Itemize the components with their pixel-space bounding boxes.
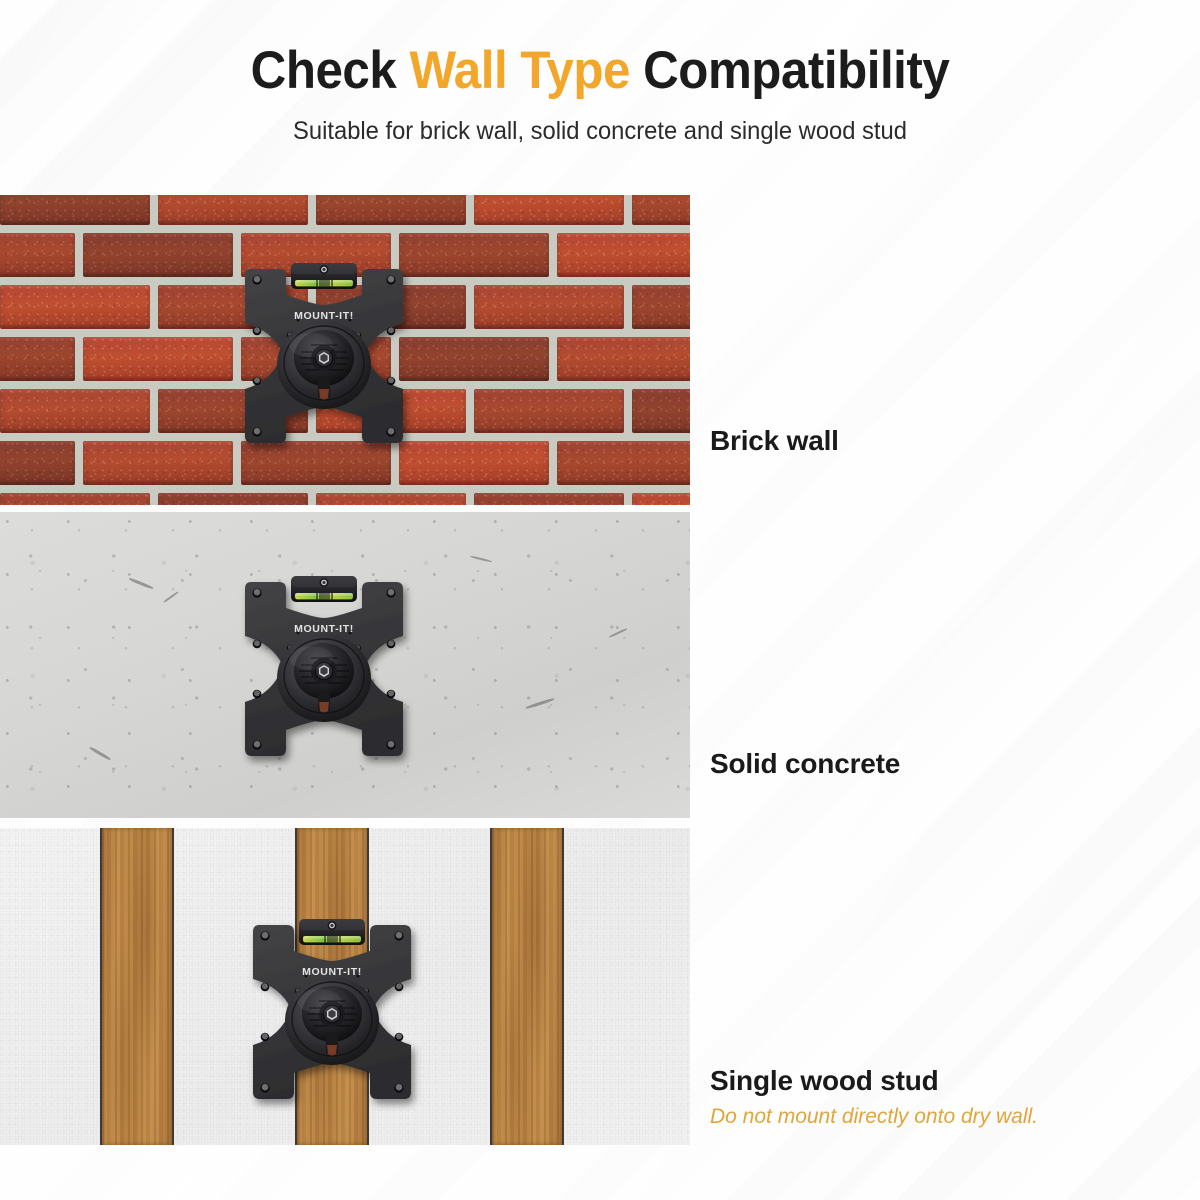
wall-type-label-wood: Single wood stud [710, 1065, 1038, 1097]
brick [316, 493, 466, 505]
brick [0, 285, 150, 329]
tv-mount-bracket-on-brick [231, 257, 417, 455]
brick [399, 441, 549, 485]
brick [316, 195, 466, 225]
brick-course [0, 493, 690, 505]
tv-mount-bracket-on-wood-stud [239, 913, 425, 1111]
brick [632, 389, 690, 433]
brick [632, 195, 690, 225]
title-text-trailing: Compatibility [630, 41, 949, 100]
brick [474, 389, 624, 433]
brick [632, 285, 690, 329]
infographic-page: Check Wall Type Compatibility Suitable f… [0, 0, 1200, 1200]
brick [474, 493, 624, 505]
label-block-wood: Single wood stud Do not mount directly o… [710, 1065, 1038, 1129]
label-block-concrete: Solid concrete [710, 748, 900, 780]
wood-stud [100, 828, 174, 1145]
solid-concrete-photo [0, 512, 690, 818]
brick [399, 337, 549, 381]
wall-type-label-brick: Brick wall [710, 425, 839, 457]
brick [557, 337, 690, 381]
page-subtitle: Suitable for brick wall, solid concrete … [30, 117, 1170, 146]
wood-stud-wall-photo [0, 828, 690, 1145]
page-title: Check Wall Type Compatibility [42, 40, 1158, 101]
brick [557, 441, 690, 485]
title-text-leading: Check [251, 41, 410, 100]
brick [557, 233, 690, 277]
brick [0, 493, 150, 505]
brick [474, 195, 624, 225]
brick [0, 441, 75, 485]
brick [0, 389, 150, 433]
label-block-brick: Brick wall [710, 425, 839, 457]
brick [158, 195, 308, 225]
wall-type-warning-note: Do not mount directly onto dry wall. [710, 1105, 1038, 1129]
brick [399, 233, 549, 277]
brick [158, 493, 308, 505]
brick [0, 195, 150, 225]
brick-wall-photo [0, 195, 690, 505]
brick [0, 233, 75, 277]
brick [83, 233, 233, 277]
brick [0, 337, 75, 381]
brick [83, 337, 233, 381]
tv-mount-bracket-on-concrete [231, 570, 417, 768]
brick-course [0, 195, 690, 225]
brick [632, 493, 690, 505]
title-text-highlight: Wall Type [410, 41, 630, 100]
header: Check Wall Type Compatibility Suitable f… [0, 0, 1200, 190]
wood-stud [490, 828, 564, 1145]
brick [474, 285, 624, 329]
wall-type-label-concrete: Solid concrete [710, 748, 900, 780]
brick [83, 441, 233, 485]
